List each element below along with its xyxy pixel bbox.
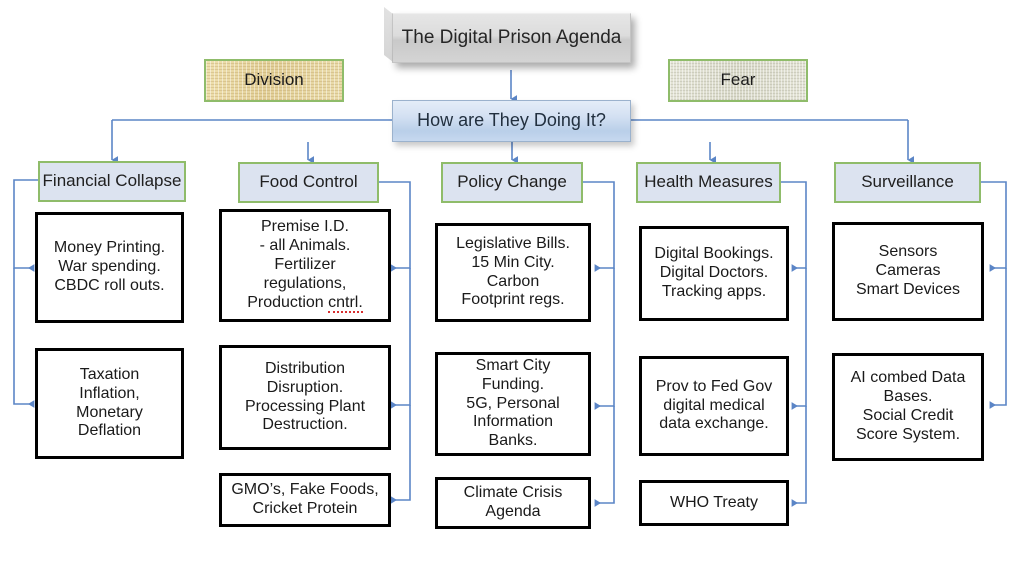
detail-card: Premise I.D.- all Animals.Fertilizerregu… <box>219 209 391 322</box>
tag-fear-label: Fear <box>721 70 756 90</box>
detail-card-text: Climate CrisisAgenda <box>438 484 588 522</box>
category-header-surveillance: Surveillance <box>834 162 981 203</box>
detail-card: AI combed DataBases.Social CreditScore S… <box>832 353 984 461</box>
category-header-policy-change: Policy Change <box>441 162 583 203</box>
detail-card: WHO Treaty <box>639 480 789 526</box>
category-label: Health Measures <box>644 172 773 192</box>
detail-card: Smart CityFunding.5G, PersonalInformatio… <box>435 352 591 456</box>
detail-card-text: GMO’s, Fake Foods,Cricket Protein <box>222 481 388 519</box>
detail-card-text: TaxationInflation,MonetaryDeflation <box>38 366 181 442</box>
detail-card-text: SensorsCamerasSmart Devices <box>835 243 981 300</box>
detail-card: Climate CrisisAgenda <box>435 477 591 529</box>
question-box: How are They Doing It? <box>392 100 631 142</box>
tag-division-label: Division <box>244 70 304 90</box>
detail-card: GMO’s, Fake Foods,Cricket Protein <box>219 473 391 527</box>
category-label: Financial Collapse <box>43 171 182 191</box>
detail-card-text: DistributionDisruption.Processing PlantD… <box>222 360 388 436</box>
detail-card-text: Money Printing.War spending.CBDC roll ou… <box>38 239 181 296</box>
detail-card: SensorsCamerasSmart Devices <box>832 222 984 321</box>
detail-card-text: Digital Bookings.Digital Doctors.Trackin… <box>642 245 786 302</box>
diagram-canvas: The Digital Prison Agenda How are They D… <box>0 0 1024 581</box>
category-header-financial-collapse: Financial Collapse <box>38 161 186 202</box>
detail-card-text: Premise I.D.- all Animals.Fertilizerregu… <box>222 218 388 312</box>
detail-card: TaxationInflation,MonetaryDeflation <box>35 348 184 459</box>
detail-card-text: AI combed DataBases.Social CreditScore S… <box>835 369 981 445</box>
detail-card-text: Smart CityFunding.5G, PersonalInformatio… <box>438 357 588 451</box>
tag-division: Division <box>204 59 344 102</box>
detail-card: Legislative Bills.15 Min City.CarbonFoot… <box>435 223 591 322</box>
diagram-title-box: The Digital Prison Agenda <box>392 13 631 63</box>
category-header-health-measures: Health Measures <box>636 162 781 203</box>
detail-card-text: Legislative Bills.15 Min City.CarbonFoot… <box>438 235 588 311</box>
detail-card-text: Prov to Fed Govdigital medicaldata excha… <box>642 378 786 435</box>
category-label: Policy Change <box>457 172 567 192</box>
detail-card-text: WHO Treaty <box>642 494 786 513</box>
detail-card: Digital Bookings.Digital Doctors.Trackin… <box>639 226 789 321</box>
tag-fear: Fear <box>668 59 808 102</box>
category-label: Surveillance <box>861 172 954 192</box>
detail-card: Money Printing.War spending.CBDC roll ou… <box>35 212 184 323</box>
detail-card: Prov to Fed Govdigital medicaldata excha… <box>639 356 789 456</box>
category-label: Food Control <box>259 172 357 192</box>
category-header-food-control: Food Control <box>238 162 379 203</box>
diagram-title-text: The Digital Prison Agenda <box>402 27 622 49</box>
detail-card: DistributionDisruption.Processing PlantD… <box>219 345 391 450</box>
question-text: How are They Doing It? <box>417 110 606 131</box>
